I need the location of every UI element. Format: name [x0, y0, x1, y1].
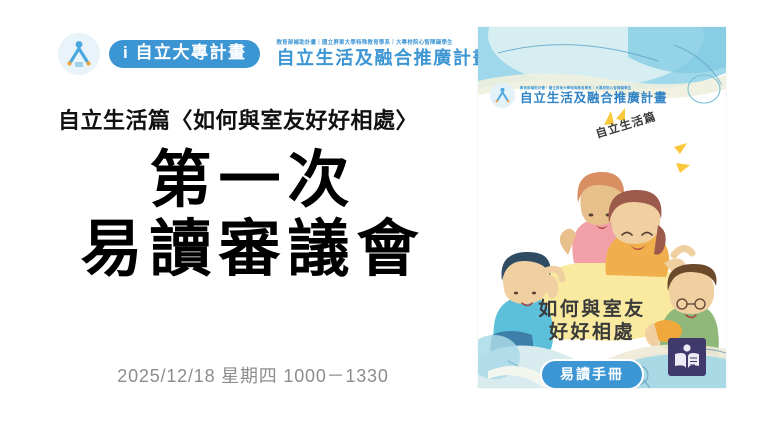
program-title-block: 教育部補助計畫｜國立屏東大學特殊教育學系｜大專校院心智障礙學生 自立生活及融合推…: [276, 41, 492, 67]
headline-line-2: 易讀審議會: [58, 215, 448, 284]
program-pill-badge: i 自立大專計畫: [109, 40, 260, 68]
open-book-logo-icon: [668, 338, 706, 376]
event-datetime: 2025/12/18 星期四 1000－1330: [58, 362, 448, 388]
headline-line-1: 第一次: [58, 146, 448, 215]
poster-title-block: 教育部補助計畫｜國立屏東大學特殊教育學系｜大專校院心智障礙學生 自立生活及融合推…: [520, 87, 667, 105]
program-title: 自立生活及融合推廣計畫: [276, 49, 492, 67]
booklet-cover-image: 教育部補助計畫｜國立屏東大學特殊教育學系｜大專校院心智障礙學生 自立生活及融合推…: [478, 27, 726, 388]
poster-program-title: 自立生活及融合推廣計畫: [520, 92, 667, 105]
poster-caption-line-1: 如何與室友: [478, 298, 706, 321]
page-title: 第一次 易讀審議會: [58, 146, 448, 285]
session-subtitle: 自立生活篇〈如何與室友好好相處〉: [58, 103, 418, 135]
brand-bar: i 自立大專計畫 教育部補助計畫｜國立屏東大學特殊教育學系｜大專校院心智障礙學生…: [58, 33, 492, 75]
slide-canvas: i 自立大專計畫 教育部補助計畫｜國立屏東大學特殊教育學系｜大專校院心智障礙學生…: [0, 0, 768, 432]
program-subtitle-line: 教育部補助計畫｜國立屏東大學特殊教育學系｜大專校院心智障礙學生: [276, 41, 492, 46]
poster-format-badge: 易讀手冊: [540, 359, 644, 388]
person-bridge-logo-icon: [58, 33, 100, 75]
poster-program-subtitle: 教育部補助計畫｜國立屏東大學特殊教育學系｜大專校院心智障礙學生: [520, 87, 667, 90]
poster-brand-block: 教育部補助計畫｜國立屏東大學特殊教育學系｜大專校院心智障礙學生 自立生活及融合推…: [490, 83, 667, 108]
person-bridge-logo-icon: [490, 83, 515, 108]
